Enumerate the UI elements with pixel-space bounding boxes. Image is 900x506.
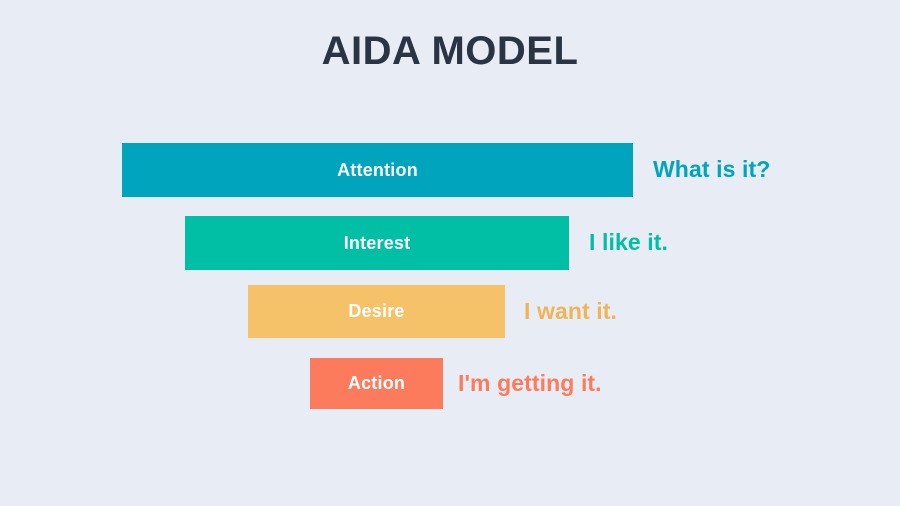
funnel-caption-action: I'm getting it. xyxy=(458,370,602,397)
aida-model-slide: AIDA MODEL Attention What is it? Interes… xyxy=(0,0,900,506)
funnel-bar-label-desire: Desire xyxy=(348,301,404,322)
funnel-caption-desire: I want it. xyxy=(524,298,617,325)
funnel-bar-label-attention: Attention xyxy=(337,160,418,181)
funnel-bar-action[interactable]: Action xyxy=(310,358,443,409)
funnel-bar-attention[interactable]: Attention xyxy=(122,143,633,197)
funnel-caption-interest: I like it. xyxy=(589,229,668,256)
page-title: AIDA MODEL xyxy=(0,28,900,74)
funnel-bar-label-action: Action xyxy=(348,373,405,394)
aida-funnel-chart: Attention What is it? Interest I like it… xyxy=(0,143,900,423)
funnel-bar-desire[interactable]: Desire xyxy=(248,285,505,338)
funnel-bar-interest[interactable]: Interest xyxy=(185,216,569,270)
funnel-bar-label-interest: Interest xyxy=(344,233,411,254)
funnel-caption-attention: What is it? xyxy=(653,156,770,183)
